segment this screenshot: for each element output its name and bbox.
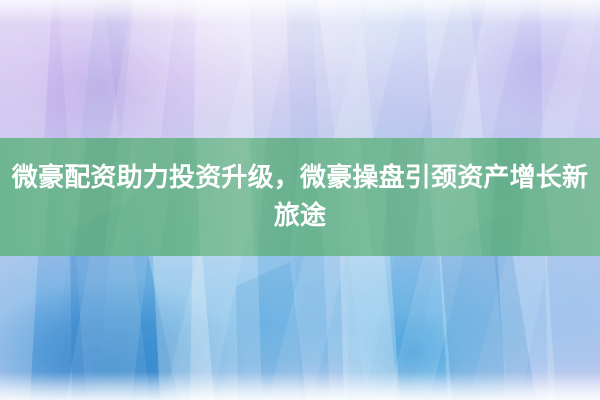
title-line-1: 微豪配资助力投资升级，微豪操盘引颈资产增长新 xyxy=(12,159,588,197)
background-bottom-fade xyxy=(0,372,600,400)
title-line-2: 旅途 xyxy=(274,197,326,235)
background-top-fade xyxy=(0,0,600,24)
promo-banner: 微豪配资助力投资升级，微豪操盘引颈资产增长新 旅途 xyxy=(0,0,600,400)
title-text-block: 微豪配资助力投资升级，微豪操盘引颈资产增长新 旅途 xyxy=(0,138,600,256)
title-band: 微豪配资助力投资升级，微豪操盘引颈资产增长新 旅途 xyxy=(0,138,600,256)
